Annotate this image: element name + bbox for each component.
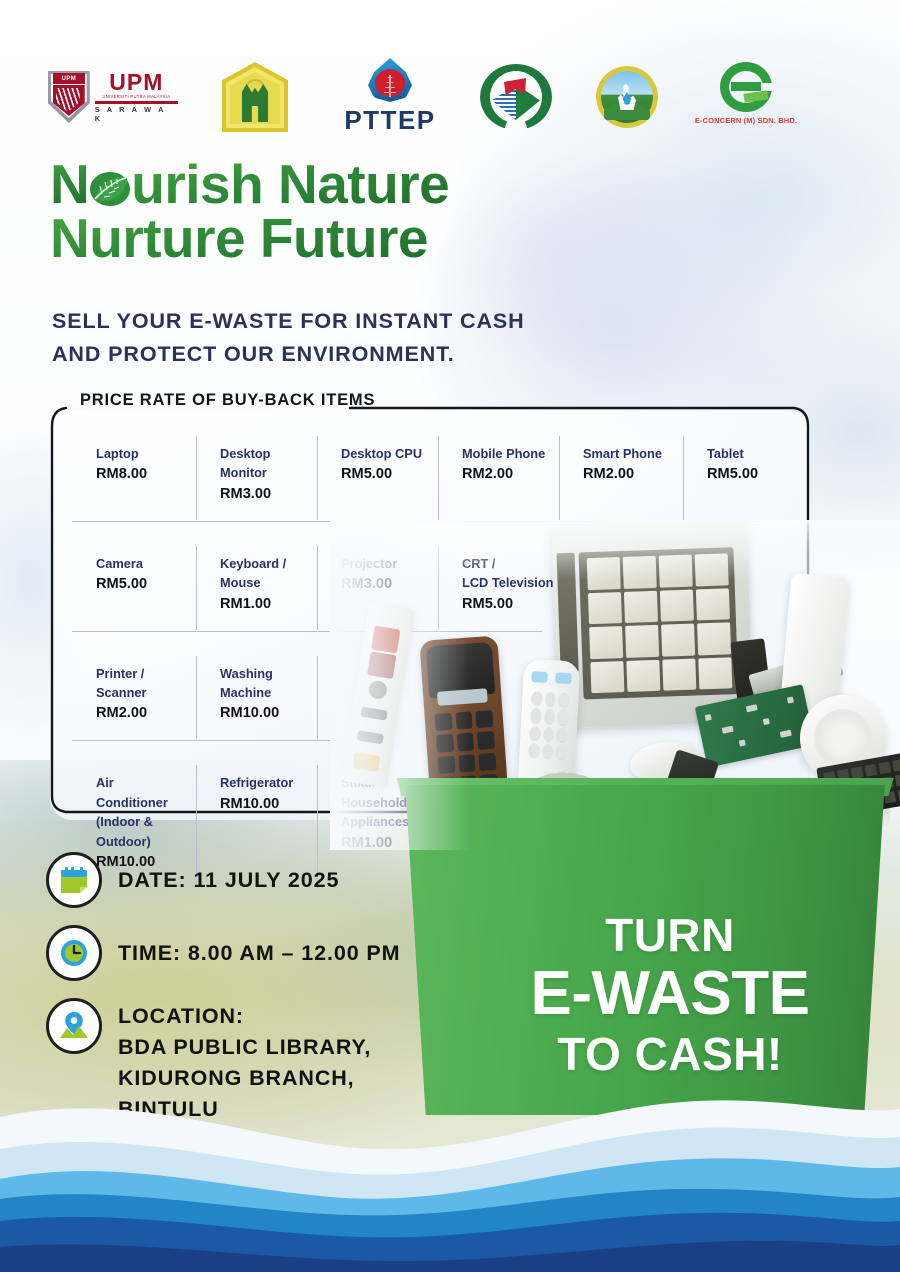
item-name: Printer / Scanner xyxy=(96,664,186,703)
upm-campus-label: S A R A W A K xyxy=(95,105,178,123)
item-name: Keyboard / Mouse xyxy=(220,554,307,593)
callout-line-3: TO CASH! xyxy=(455,1031,885,1077)
item-name: Refrigerator xyxy=(220,773,307,792)
photo-top-fade xyxy=(330,520,900,580)
item-name: Washing Machine xyxy=(220,664,307,703)
upm-divider-bar xyxy=(95,101,178,104)
item-name: Camera xyxy=(96,554,186,573)
event-time-text: TIME: 8.00 AM – 12.00 PM xyxy=(118,925,400,969)
wave-footer xyxy=(0,1087,900,1272)
price-cell-printer-scanner: Printer / Scanner RM2.00 xyxy=(72,650,196,742)
page-title: Nurish Nature Nurture Future xyxy=(50,158,570,266)
item-price: RM1.00 xyxy=(220,594,307,616)
price-cell-desktop-monitor: Desktop Monitor RM3.00 xyxy=(196,430,317,522)
item-price: RM5.00 xyxy=(707,464,778,486)
item-name: Tablet xyxy=(707,444,778,463)
location-label: LOCATION: xyxy=(118,1001,371,1032)
price-cell-smart-phone: Smart Phone RM2.00 xyxy=(559,430,683,522)
price-cell-tablet: Tablet RM5.00 xyxy=(683,430,788,522)
poster-root: UPM UPM UNIVERSITI PUTRA MALAYSIA S A R … xyxy=(0,0,900,1272)
item-name: Desktop CPU xyxy=(341,444,428,463)
item-price: RM2.00 xyxy=(96,703,186,725)
price-cell-keyboard-mouse: Keyboard / Mouse RM1.00 xyxy=(196,540,317,632)
item-name: Air Conditioner (Indoor & Outdoor) xyxy=(96,773,186,851)
subtitle-line-1: SELL YOUR E-WASTE FOR INSTANT CASH xyxy=(52,305,652,338)
item-price: RM3.00 xyxy=(220,484,307,506)
leaf-icon xyxy=(88,169,132,209)
subtitle: SELL YOUR E-WASTE FOR INSTANT CASH AND P… xyxy=(52,305,652,370)
table-row: Laptop RM8.00 Desktop Monitor RM3.00 Des… xyxy=(72,430,788,522)
item-price: RM10.00 xyxy=(220,794,307,816)
item-name: Desktop Monitor xyxy=(220,444,307,483)
price-cell-camera: Camera RM5.00 xyxy=(72,540,196,632)
price-table-title: PRICE RATE OF BUY-BACK ITEMS xyxy=(72,391,383,410)
calendar-icon xyxy=(46,852,102,908)
item-price: RM2.00 xyxy=(462,464,549,486)
headline-line-1-suffix: urish Nature xyxy=(131,153,449,215)
sponsor-logo-strip: UPM UPM UNIVERSITI PUTRA MALAYSIA S A R … xyxy=(48,56,668,138)
event-date-text: DATE: 11 JULY 2025 xyxy=(118,852,339,896)
headline-line-2-text: Nurture Future xyxy=(50,207,428,269)
pttep-droplet-icon xyxy=(368,58,412,102)
item-price: RM2.00 xyxy=(583,464,673,486)
subtitle-line-2: AND PROTECT OUR ENVIRONMENT. xyxy=(52,338,652,371)
callout-line-1: TURN xyxy=(455,912,885,958)
headline-line-2: Nurture Future xyxy=(50,212,570,266)
headline-line-1: Nurish Nature xyxy=(50,158,570,212)
callout-text: TURN E-WASTE TO CASH! xyxy=(455,912,885,1077)
state-emblem-logo xyxy=(222,62,288,132)
upm-shield-icon: UPM xyxy=(48,71,90,123)
jabatan-alam-sekitar-logo xyxy=(480,64,552,130)
item-price: RM8.00 xyxy=(96,464,186,486)
item-price: RM5.00 xyxy=(341,464,428,486)
item-name: Laptop xyxy=(96,444,186,463)
upm-fullname: UNIVERSITI PUTRA MALAYSIA xyxy=(102,94,170,101)
price-cell-desktop-cpu: Desktop CPU RM5.00 xyxy=(317,430,438,522)
e-concern-logo: E-CONCERN (M) SDN. BHD. xyxy=(700,62,792,132)
item-name: Smart Phone xyxy=(583,444,673,463)
pttep-wordmark: PTTEP xyxy=(344,105,435,136)
headline-line-1-prefix: N xyxy=(50,153,89,215)
upm-sarawak-logo: UPM UPM UNIVERSITI PUTRA MALAYSIA S A R … xyxy=(48,66,178,128)
upm-shield-label: UPM xyxy=(62,76,77,82)
e-concern-wordmark: E-CONCERN (M) SDN. BHD. xyxy=(695,116,797,125)
clock-icon xyxy=(46,925,102,981)
e-concern-mark-icon xyxy=(720,62,772,112)
map-pin-icon xyxy=(46,998,102,1054)
item-price: RM10.00 xyxy=(220,703,307,725)
event-date-row: DATE: 11 JULY 2025 xyxy=(46,852,456,908)
item-name: Mobile Phone xyxy=(462,444,549,463)
callout-line-2: E-WASTE xyxy=(455,963,885,1025)
lembaga-sumber-air-logo xyxy=(596,66,658,128)
location-line-1: BDA PUBLIC LIBRARY, xyxy=(118,1032,371,1063)
price-cell-laptop: Laptop RM8.00 xyxy=(72,430,196,522)
item-price: RM5.00 xyxy=(96,574,186,596)
upm-wordmark: UPM xyxy=(109,71,163,94)
pttep-logo: PTTEP xyxy=(338,58,442,136)
event-time-row: TIME: 8.00 AM – 12.00 PM xyxy=(46,925,456,981)
price-cell-mobile-phone: Mobile Phone RM2.00 xyxy=(438,430,559,522)
price-cell-washing-machine: Washing Machine RM10.00 xyxy=(196,650,317,742)
